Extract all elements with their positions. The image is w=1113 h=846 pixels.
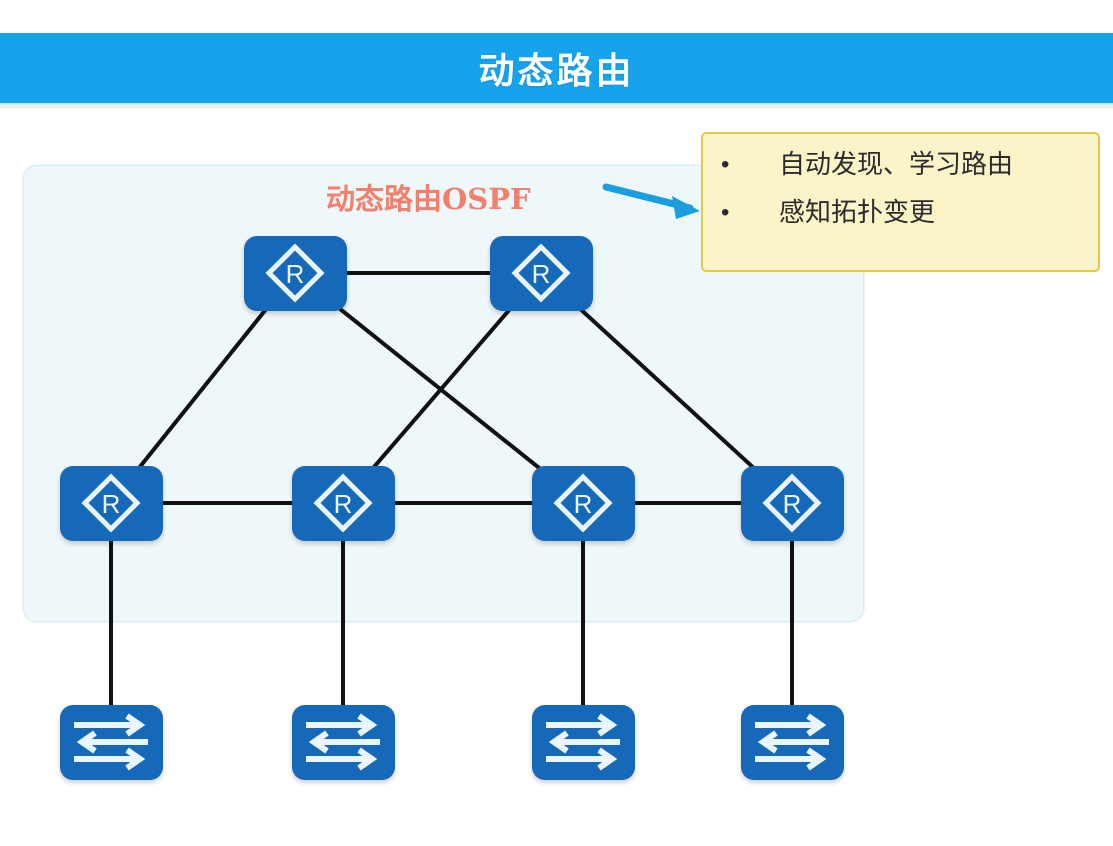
callout-item-text: 自动发现、学习路由 (779, 148, 1013, 182)
callout-item: • 感知拓扑变更 (721, 196, 1086, 230)
router-node-icon[interactable]: R (532, 466, 635, 541)
switch-node-icon[interactable] (292, 705, 395, 780)
callout-box: • 自动发现、学习路由 • 感知拓扑变更 (701, 132, 1100, 272)
router-node-icon[interactable]: R (490, 236, 593, 311)
svg-text:R: R (286, 259, 305, 289)
switch-node-icon[interactable] (60, 705, 163, 780)
svg-text:R: R (102, 489, 121, 519)
ospf-panel-label: 动态路由OSPF (326, 176, 531, 218)
page-title: 动态路由 (478, 42, 634, 94)
svg-text:R: R (334, 489, 353, 519)
switch-node-icon[interactable] (741, 705, 844, 780)
router-node-icon[interactable]: R (244, 236, 347, 311)
svg-text:R: R (532, 259, 551, 289)
svg-text:R: R (783, 489, 802, 519)
banner-underline (0, 103, 1113, 108)
callout-item: • 自动发现、学习路由 (721, 148, 1086, 182)
router-node-icon[interactable]: R (292, 466, 395, 541)
switch-node-icon[interactable] (532, 705, 635, 780)
bullet-icon: • (721, 148, 779, 182)
router-node-icon[interactable]: R (741, 466, 844, 541)
svg-text:R: R (574, 489, 593, 519)
router-node-icon[interactable]: R (60, 466, 163, 541)
page-banner: 动态路由 (0, 33, 1113, 103)
callout-item-text: 感知拓扑变更 (779, 196, 935, 230)
bullet-icon: • (721, 196, 779, 230)
